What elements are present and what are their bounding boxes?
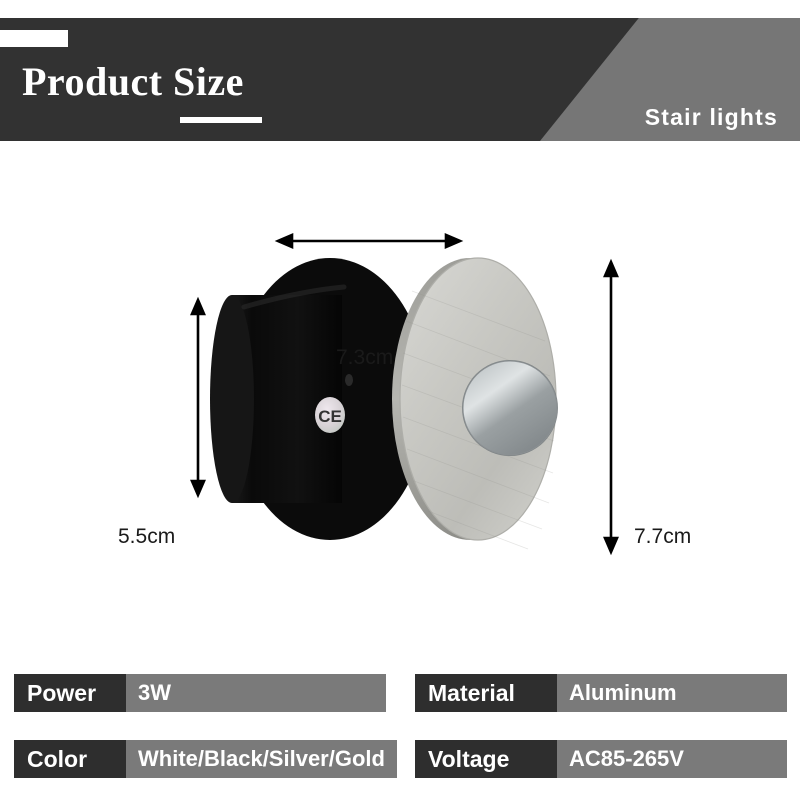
spec-value-material: Aluminum bbox=[557, 674, 787, 712]
spec-value-power: 3W bbox=[126, 674, 386, 712]
product-image-area: CE bbox=[0, 141, 800, 660]
spec-row-color: Color White/Black/Silver/Gold bbox=[14, 740, 386, 778]
header-accent-tab bbox=[0, 30, 68, 47]
dimension-label-depth: 5.5cm bbox=[118, 525, 175, 549]
spec-label-voltage: Voltage bbox=[415, 740, 557, 778]
title-underline bbox=[180, 117, 262, 123]
aluminum-faceplate bbox=[392, 258, 558, 549]
spec-label-power: Power bbox=[14, 674, 126, 712]
spec-value-color: White/Black/Silver/Gold bbox=[126, 740, 397, 778]
dimension-arrow-width bbox=[278, 235, 460, 247]
page-title: Product Size bbox=[22, 62, 244, 102]
dimension-arrow-height bbox=[605, 262, 617, 552]
dimension-label-width: 7.3cm bbox=[336, 346, 393, 370]
spec-row-material: Material Aluminum bbox=[415, 674, 787, 712]
page-header: Product Size Stair lights bbox=[0, 18, 800, 141]
spec-value-voltage: AC85-265V bbox=[557, 740, 787, 778]
product-diagram: CE bbox=[0, 141, 800, 660]
product-category-badge: Stair lights bbox=[645, 104, 778, 131]
spec-row-power: Power 3W bbox=[14, 674, 386, 712]
dimension-arrow-depth bbox=[192, 300, 204, 495]
ce-mark-icon: CE bbox=[315, 397, 345, 433]
dimension-label-height: 7.7cm bbox=[634, 525, 691, 549]
spec-row-voltage: Voltage AC85-265V bbox=[415, 740, 787, 778]
spec-label-color: Color bbox=[14, 740, 126, 778]
svg-text:CE: CE bbox=[318, 407, 342, 426]
spec-label-material: Material bbox=[415, 674, 557, 712]
